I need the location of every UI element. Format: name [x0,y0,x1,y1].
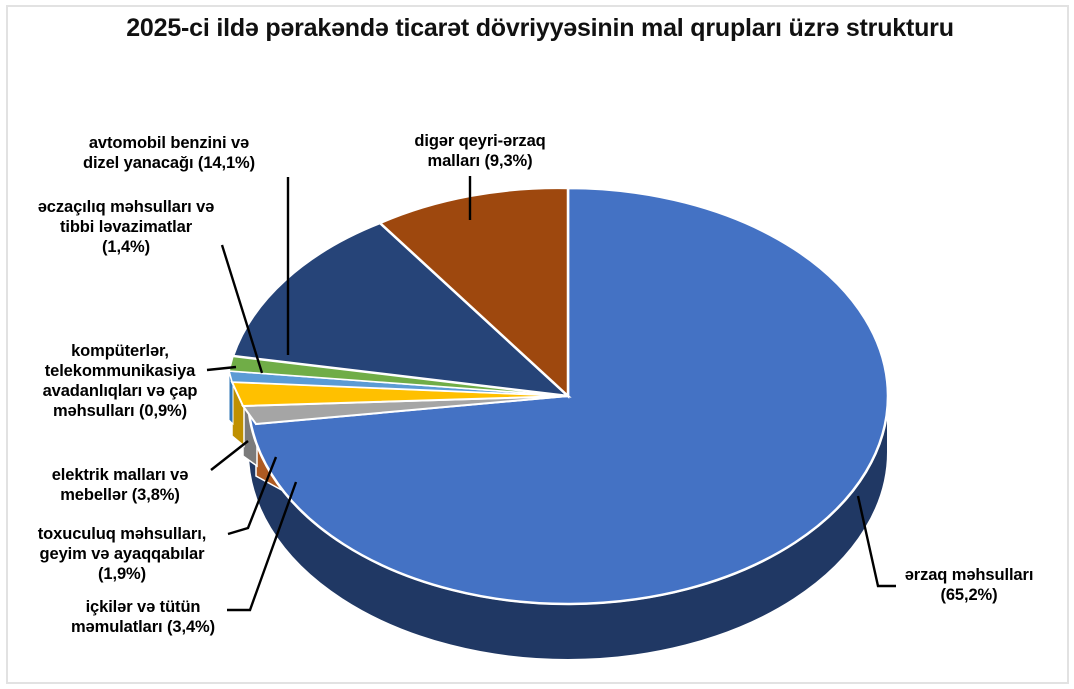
slice-side-elektrik [232,382,244,446]
slice-elektrik [232,382,568,406]
slice-diger [380,188,568,396]
callout-avtomobil-benzini: avtomobil benzini və dizel yanacağı (14,… [44,133,294,173]
slice-side-ickiler [256,424,300,500]
leader-toxuculuq [228,457,276,534]
chart-container: 2025-ci ildə pərakəndə ticarət dövriyyəs… [0,0,1074,689]
slice-toxuculuq [243,396,568,424]
slice-side-toxuculuq [243,406,257,466]
callout-komputerler: kompüterlər, telekommunikasiya avadanlıq… [22,341,218,422]
slice-ickiler [248,396,568,424]
leader-eczacilq [222,245,262,373]
pie-top-faces [229,188,888,604]
callout-toxuculuq-mehsullari: toxuculuq məhsulları, geyim və ayaqqabıl… [14,524,230,584]
callout-erzaq-mehsullari: ərzaq məhsulları (65,2%) [874,565,1064,605]
slice-komputer [229,371,568,396]
callout-elektrik-mallari: elektrik malları və mebellər (3,8%) [22,465,218,505]
chart-title: 2025-ci ildə pərakəndə ticarət dövriyyəs… [120,12,960,45]
slice-erzaq [248,188,888,604]
callout-eczacilq-mehsullari: əczaçılıq məhsulları və tibbi ləvazimatl… [8,197,244,257]
leader-ickiler [227,482,296,610]
pie-depth-walls [229,371,888,660]
slice-eczacilq [229,356,568,396]
slice-benzin [233,223,568,396]
leader-lines [207,176,896,610]
slice-side-erzaq [248,396,888,660]
callout-diger-qeyri-erzaq: digər qeyri-ərzaq malları (9,3%) [380,131,580,171]
slice-side-komputer [229,371,233,424]
callout-ickiler-ve-tutun: içkilər və tütün məmulatları (3,4%) [48,597,238,637]
